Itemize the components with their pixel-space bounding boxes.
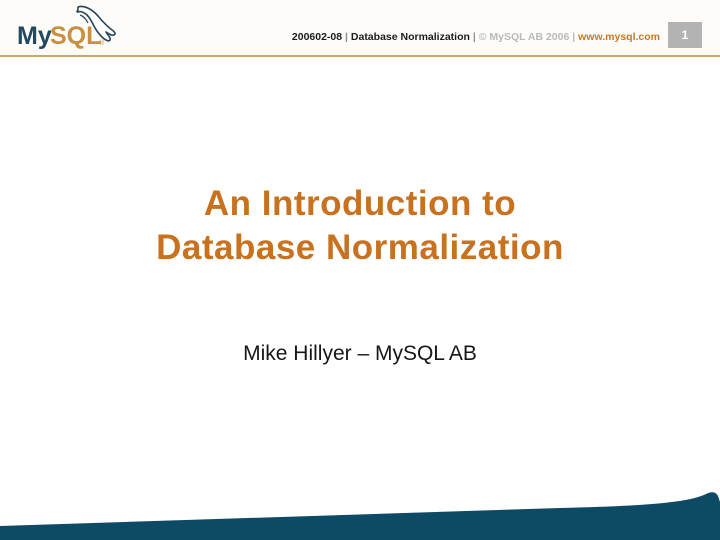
mysql-logo: My SQL ® (16, 3, 136, 51)
slide-subtitle: Mike Hillyer – MySQL AB (0, 340, 720, 368)
slide-canvas: My SQL ® 200602-08 | Database Normalizat… (0, 0, 720, 540)
header-divider-rule (0, 55, 720, 57)
header-separator-1: | (342, 31, 351, 43)
footer-wave-decoration (0, 480, 720, 540)
header-caption: 200602-08 | Database Normalization | © M… (0, 31, 660, 43)
title-line-1: An Introduction to (0, 182, 720, 226)
title-line-2: Database Normalization (0, 226, 720, 270)
header-website-link[interactable]: www.mysql.com (578, 31, 660, 43)
header-doc-code: 200602-08 (292, 31, 342, 43)
page-number-value: 1 (682, 28, 689, 42)
slide-title: An Introduction to Database Normalizatio… (0, 182, 720, 270)
header-separator-3: | (569, 31, 578, 43)
page-number-badge: 1 (668, 22, 702, 48)
mysql-dolphin-logo: My SQL ® (16, 3, 136, 51)
header-copyright: © MySQL AB 2006 (479, 31, 570, 43)
header-separator-2: | (470, 31, 479, 43)
header-topic: Database Normalization (351, 31, 470, 43)
